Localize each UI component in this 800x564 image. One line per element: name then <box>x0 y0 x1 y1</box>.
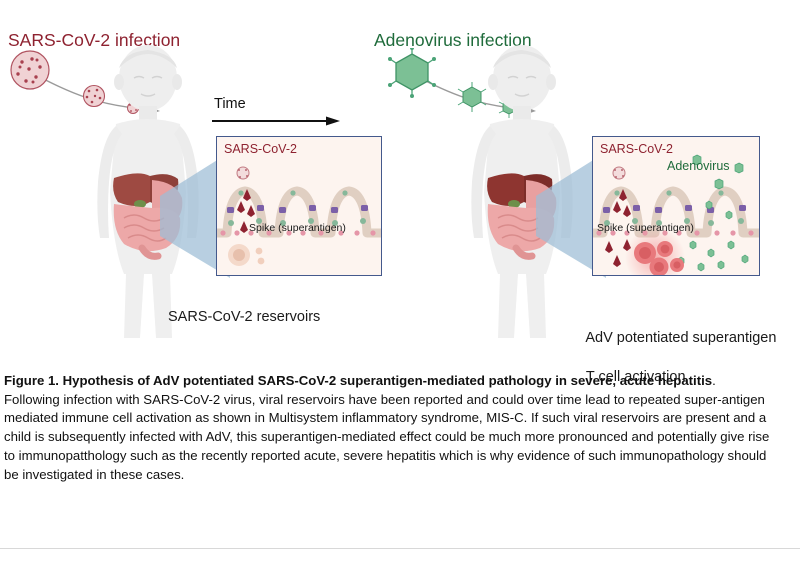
left-panel-caption: SARS-CoV-2 reservoirs <box>168 309 320 326</box>
inset-right-title-sars: SARS-CoV-2 <box>600 142 673 156</box>
epithelium-diagram-left <box>217 137 381 275</box>
bottom-divider <box>0 548 800 549</box>
inset-panel-right: SARS-CoV-2 Adenovirus Spike (superantige… <box>592 136 760 276</box>
inset-panel-left: SARS-CoV-2 Spike (superantigen) <box>216 136 382 276</box>
inset-right-spike-annotation: Spike (superantigen) <box>597 222 694 234</box>
coronavirus-particle-inset <box>237 167 249 179</box>
figure-caption-lead: Figure 1. Hypothesis of AdV potentiated … <box>4 373 712 388</box>
time-arrow-icon <box>212 116 340 126</box>
right-panel-caption-line1: AdV potentiated superantigen <box>585 330 776 346</box>
inset-left-title-sars: SARS-CoV-2 <box>224 142 297 156</box>
inset-right-title-adenovirus: Adenovirus <box>667 159 730 173</box>
adenovirus-particle-large <box>388 48 436 98</box>
figure-canvas: SARS-CoV-2 infection <box>0 0 800 368</box>
time-axis-label: Time <box>214 96 246 113</box>
figure-caption: Figure 1. Hypothesis of AdV potentiated … <box>4 372 774 484</box>
epithelium-diagram-right <box>593 137 759 275</box>
inset-left-spike-annotation: Spike (superantigen) <box>249 222 346 234</box>
figure-caption-body: . Following infection with SARS-CoV-2 vi… <box>4 373 769 482</box>
coronavirus-particle-inset <box>613 167 625 179</box>
coronavirus-particle-large <box>11 51 49 89</box>
